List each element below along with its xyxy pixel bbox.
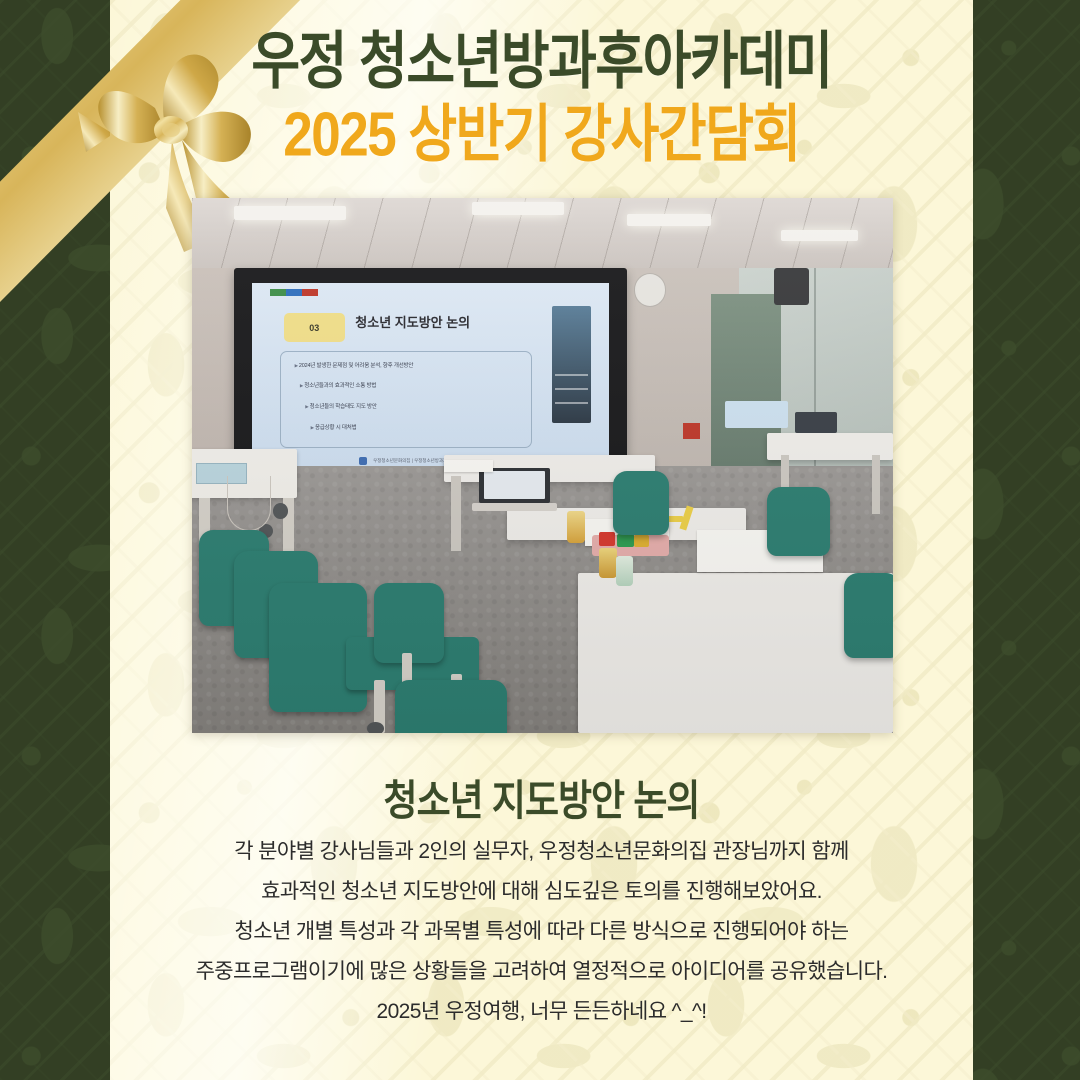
photo-cable-loop (227, 476, 271, 531)
photo-chair (844, 573, 893, 659)
title-line-1: 우정 청소년방과후아카데미 (110, 28, 973, 96)
slide-side-image (552, 306, 591, 423)
body-line: 각 분야별 강사님들과 2인의 실무자, 우정청소년문화의집 관장님까지 함께 (110, 838, 973, 867)
body-line: 청소년 개별 특성과 각 과목별 특성에 따라 다른 방식으로 진행되어야 하는 (110, 918, 973, 947)
slide-bullet: 2024년 발생한 문제점 및 어려움 분석, 향후 개선방안 (295, 361, 414, 369)
photo-equipment (795, 412, 837, 433)
poster-title: 우정 청소년방과후아카데미 2025 상반기 강사간담회 (110, 28, 973, 158)
body-line: 2025년 우정여행, 너무 든든하네요 ^_^! (110, 998, 973, 1027)
photo-chair (767, 487, 830, 557)
photo-ceiling-light (472, 202, 563, 215)
photo-ceiling-light (781, 230, 858, 241)
photo-table-leg (872, 455, 880, 514)
title-line-2: 2025 상반기 강사간담회 (110, 101, 973, 169)
section-headline: 청소년 지도방안 논의 (110, 766, 973, 828)
photo-laptop (479, 468, 549, 503)
slide-title: 청소년 지도방안 논의 (355, 312, 470, 331)
photo-ceiling-speaker (774, 268, 809, 305)
photo-shelf-boxes (725, 401, 788, 428)
slide-bullet: 응급상황 시 대처법 (311, 423, 357, 431)
photo-ceiling-light (627, 214, 711, 226)
body-line: 주중프로그램이기에 많은 상황들을 고려하여 열정적으로 아이디어를 공유했습니… (110, 958, 973, 987)
photo-drink-bottle (599, 548, 617, 577)
slide-bullet: 청소년들의 학습태도 지도 방안 (305, 402, 376, 410)
body-line: 효과적인 청소년 지도방안에 대해 심도깊은 토의를 진행해보았어요. (110, 878, 973, 907)
photo-chair (374, 583, 444, 663)
photo-chair (613, 471, 669, 535)
photo-snack (617, 534, 634, 547)
photo-snack (599, 532, 616, 546)
slide-section-number: 03 (284, 313, 345, 341)
slide-tab-strip (270, 289, 318, 296)
photo-wall-clock (634, 273, 667, 307)
slide-bullet: 청소년들과의 효과적인 소통 방법 (300, 381, 376, 389)
photo-red-marker (683, 423, 701, 439)
photo-drink-bottle (567, 511, 585, 543)
photo-slide: 03 청소년 지도방안 논의 2024년 발생한 문제점 및 어려움 분석, 향… (252, 283, 609, 472)
photo-caster (367, 722, 384, 733)
body-text-block: 각 분야별 강사님들과 2인의 실무자, 우정청소년문화의집 관장님까지 함께 … (110, 838, 973, 1038)
photo-ceiling-light (234, 206, 346, 220)
photo-snack (634, 535, 649, 547)
photo-water-bottle (616, 556, 633, 585)
photo-table-leg (451, 476, 461, 551)
poster-card: 우정 청소년방과후아카데미 2025 상반기 강사간담회 03 청소년 지도방안… (0, 0, 1080, 1080)
photo-chair (395, 680, 507, 734)
photo-paper (444, 460, 493, 472)
photo-laptop-base (472, 503, 556, 512)
photo-caster (273, 503, 288, 519)
slide-logo-icon (359, 457, 367, 465)
meeting-photo: 03 청소년 지도방안 논의 2024년 발생한 문제점 및 어려움 분석, 향… (192, 198, 893, 733)
